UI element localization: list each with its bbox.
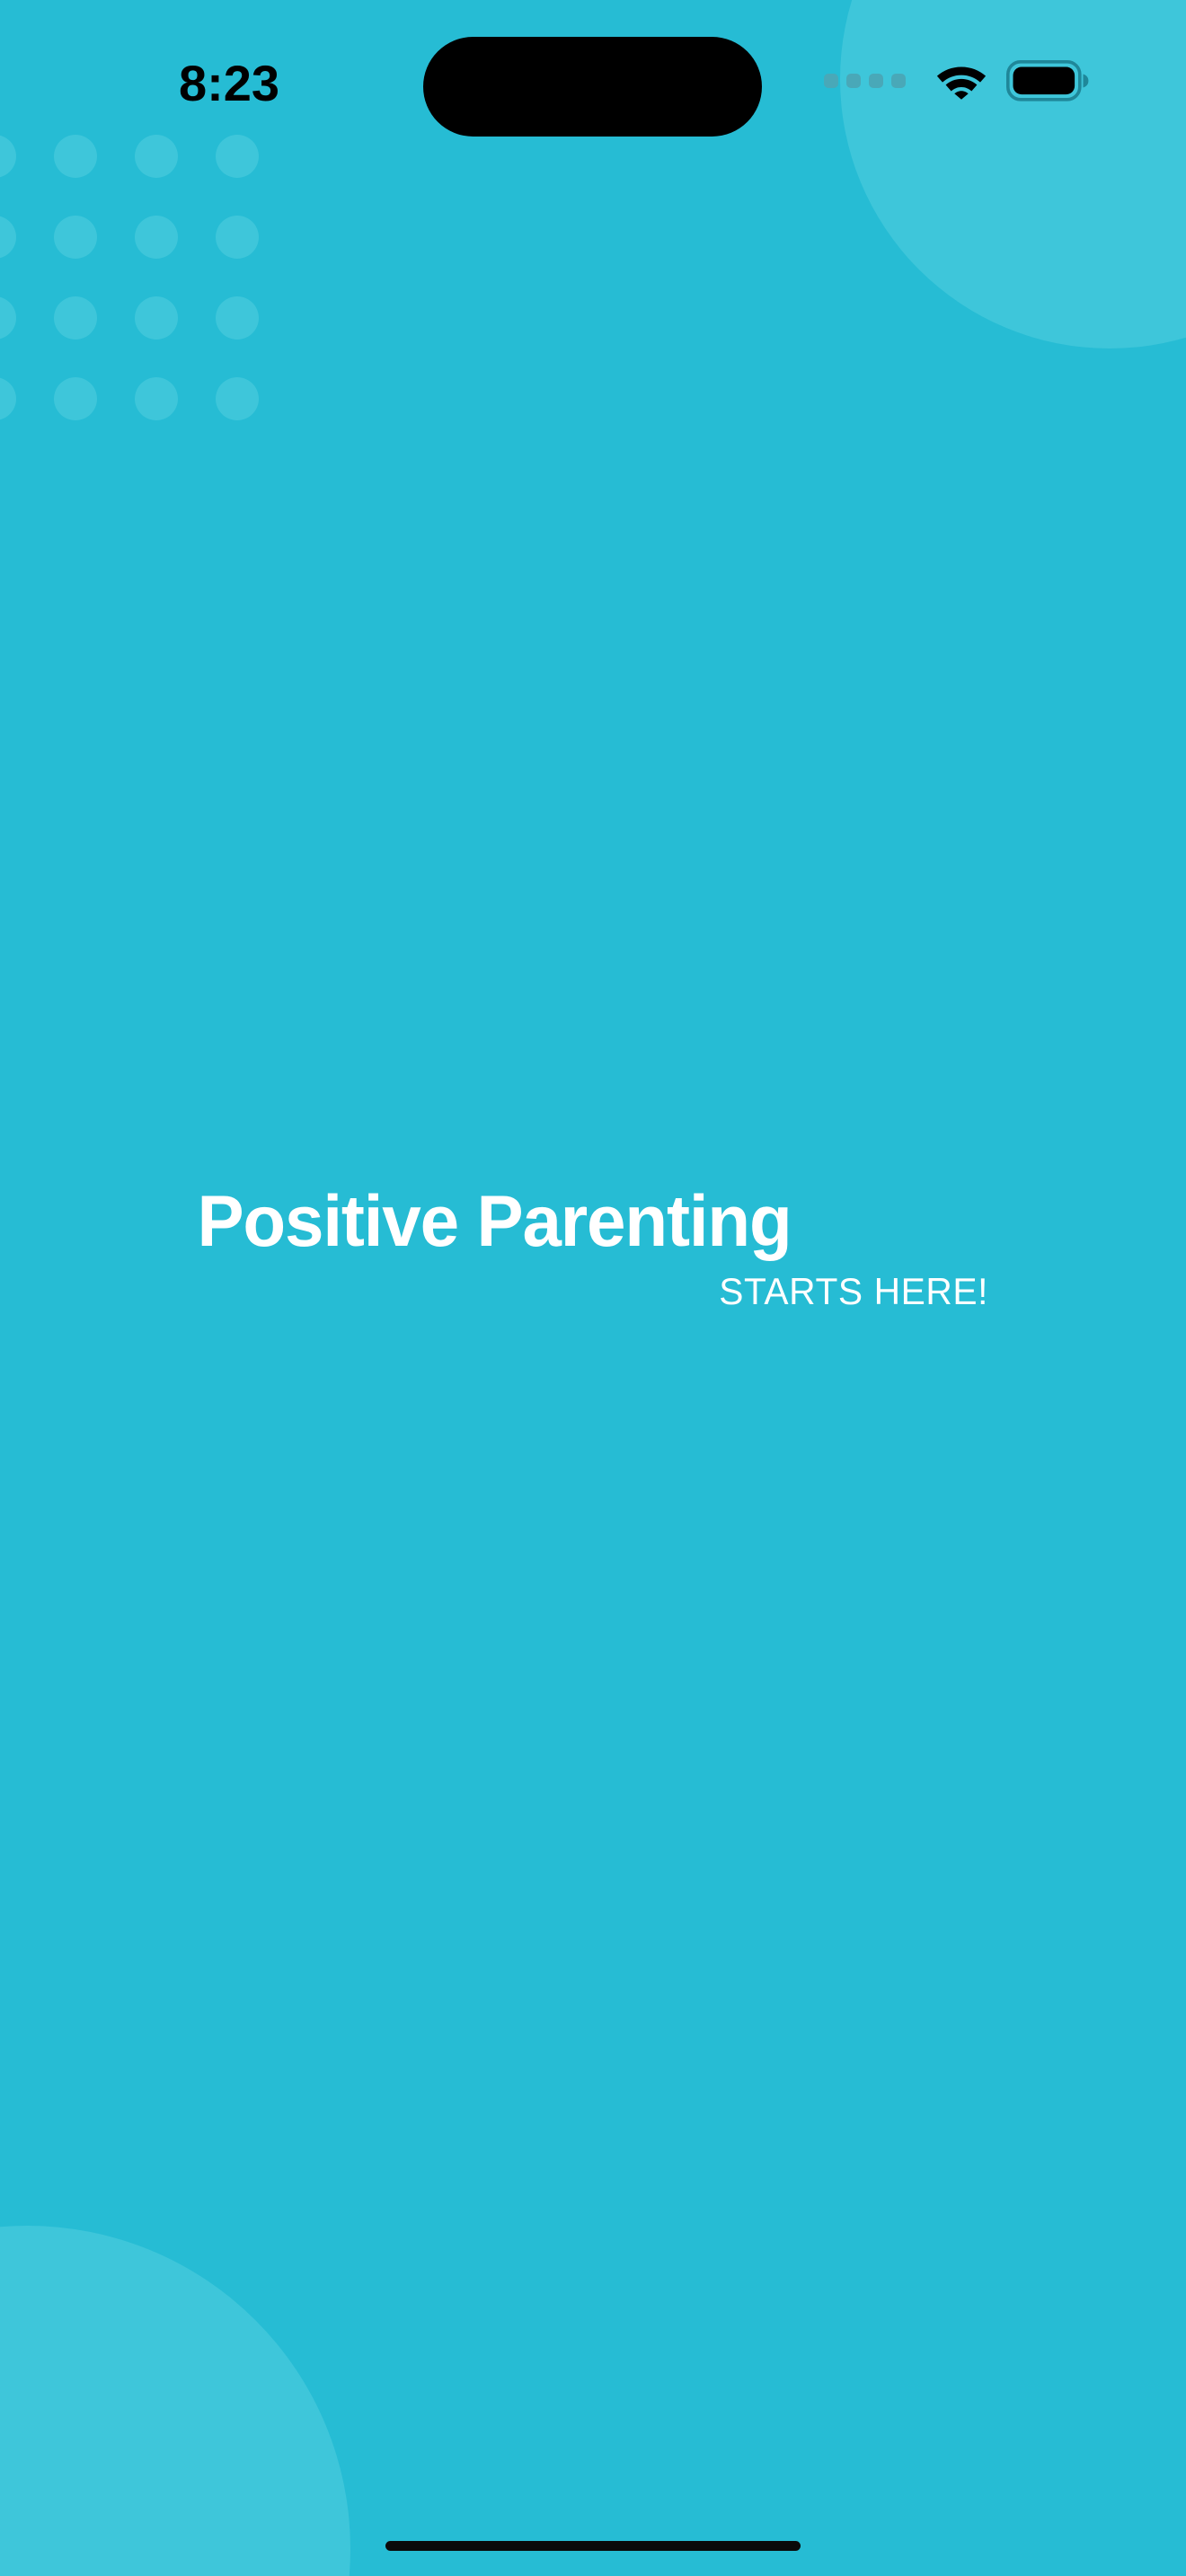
grid-dot (135, 377, 178, 420)
cellular-dot (869, 74, 883, 88)
cellular-dot (891, 74, 906, 88)
wifi-icon (936, 62, 987, 100)
grid-dot (216, 377, 259, 420)
grid-dot (54, 377, 97, 420)
home-indicator[interactable] (385, 2541, 801, 2551)
hero-text-block: Positive Parenting STARTS HERE! (0, 1184, 1186, 1312)
grid-dot (135, 216, 178, 259)
cellular-dot (824, 74, 838, 88)
dot-grid-pattern (0, 135, 323, 472)
decorative-circle-bottom-left (0, 2226, 350, 2576)
status-bar: 8:23 (0, 0, 1186, 171)
status-bar-icons (824, 54, 1089, 108)
page-title: Positive Parenting (17, 1184, 971, 1261)
cellular-signal-icon (824, 74, 906, 88)
grid-dot (54, 216, 97, 259)
grid-dot (0, 216, 16, 259)
grid-dot (0, 296, 16, 340)
grid-dot (54, 296, 97, 340)
battery-icon (1006, 60, 1089, 101)
dynamic-island (423, 37, 762, 137)
status-bar-time: 8:23 (153, 56, 305, 111)
grid-dot (216, 216, 259, 259)
grid-dot (0, 377, 16, 420)
cellular-dot (846, 74, 861, 88)
page-tagline: STARTS HERE! (30, 1270, 988, 1312)
grid-dot (135, 296, 178, 340)
grid-dot (216, 296, 259, 340)
splash-screen: 8:23 (0, 0, 1186, 2576)
